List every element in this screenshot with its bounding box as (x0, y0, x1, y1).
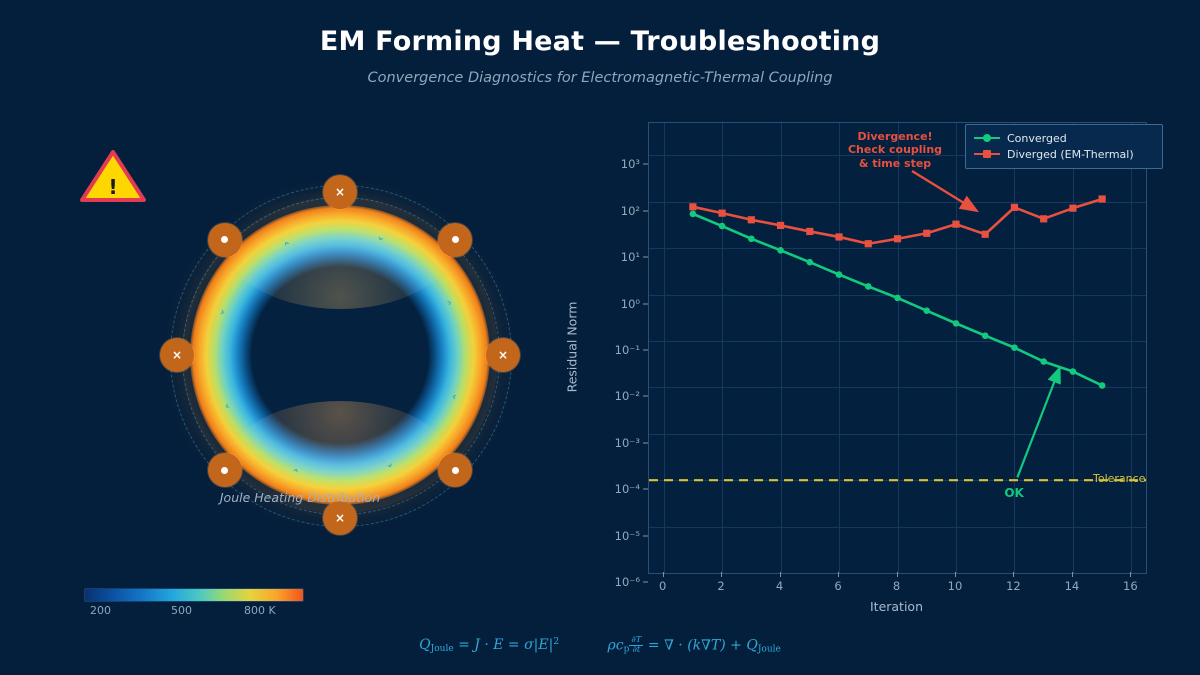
x-axis-tick-label: 10 (948, 579, 963, 593)
ok-annotation: OK (1004, 486, 1024, 500)
ring-visualization: ‹›‹›‹›‹› ×××× (160, 175, 520, 535)
svg-text:!: ! (108, 175, 117, 199)
data-point-marker (806, 259, 813, 266)
y-axis-tick-mark (643, 164, 648, 165)
coil-marker-cross-0[interactable]: × (323, 175, 357, 209)
colorbar-tick-low: 200 (90, 604, 111, 617)
legend-marker-1 (983, 150, 991, 158)
convergence-chart: Residual Norm Iteration 10³10²10¹10⁰10⁻¹… (580, 112, 1180, 602)
coil-marker-dot-7[interactable] (208, 223, 242, 257)
x-axis-tick-mark (721, 572, 722, 577)
equation-joule-heating: QJoule = J · E = σ|E|2 (419, 637, 559, 654)
data-point-marker (865, 240, 872, 247)
divergence-callout-arrow (912, 171, 977, 211)
y-axis-tick-mark (643, 489, 648, 490)
data-point-marker (718, 210, 725, 217)
data-point-marker (865, 283, 872, 290)
y-axis-tick-mark (643, 582, 648, 583)
x-axis-tick-label: 6 (834, 579, 841, 593)
coil-marker-dot-5[interactable] (208, 453, 242, 487)
data-point-marker (1040, 215, 1047, 222)
legend-swatch-diverged (974, 148, 1000, 160)
screen-root: EM Forming Heat — Troubleshooting Conver… (0, 0, 1200, 675)
x-axis-tick-mark (1013, 572, 1014, 577)
coil-cross-icon: × (335, 512, 345, 524)
data-point-marker (748, 216, 755, 223)
eq-thermal-den: ∂t (629, 646, 643, 655)
coil-dot-icon (221, 236, 228, 243)
data-point-marker (777, 222, 784, 229)
coil-dot-icon (452, 236, 459, 243)
data-point-marker (923, 230, 930, 237)
eq-thermal-rhs-sub: Joule (758, 644, 781, 654)
eq-thermal-rhs: = ∇ · (k∇T) + Q (648, 637, 758, 653)
data-point-marker (982, 332, 989, 339)
coil-marker-cross-4[interactable]: × (323, 501, 357, 535)
data-point-marker (748, 235, 755, 242)
data-point-marker (953, 320, 960, 327)
y-axis-label: Residual Norm (565, 302, 580, 393)
x-axis-tick-mark (1072, 572, 1073, 577)
ring-caption: Joule Heating Distribution (40, 490, 560, 505)
coil-dot-icon (221, 467, 228, 474)
data-point-marker (982, 231, 989, 238)
y-axis-tick-mark (643, 303, 648, 304)
eq-thermal-rho: ρc (608, 637, 624, 653)
data-point-marker (1040, 358, 1047, 365)
legend-item-converged[interactable]: Converged (974, 130, 1154, 146)
x-axis-tick-label: 12 (1006, 579, 1021, 593)
y-axis-tick-label: 10⁻¹ (615, 343, 640, 357)
x-axis-tick-label: 2 (717, 579, 724, 593)
legend-label-converged: Converged (1007, 132, 1067, 145)
y-axis-tick-mark (643, 442, 648, 443)
colorbar-gradient (84, 588, 304, 602)
data-point-marker (1070, 368, 1077, 375)
divergence-annotation: Divergence! Check coupling & time step (840, 130, 950, 170)
y-axis-tick-mark (643, 210, 648, 211)
x-axis-tick-mark (955, 572, 956, 577)
coil-marker-cross-6[interactable]: × (160, 338, 194, 372)
colorbar-tick-mid: 500 (171, 604, 192, 617)
data-point-marker (806, 228, 813, 235)
data-point-marker (835, 233, 842, 240)
x-axis-tick-label: 16 (1123, 579, 1138, 593)
data-point-marker (952, 221, 959, 228)
y-axis-tick-label: 10¹ (621, 250, 640, 264)
x-axis-label: Iteration (648, 599, 1145, 614)
series-canvas (649, 123, 1146, 573)
eq-joule-sub: Joule (431, 644, 454, 654)
x-axis-tick-mark (780, 572, 781, 577)
eq-thermal-fraction: ∂T∂t (629, 636, 643, 655)
coil-cross-icon: × (498, 349, 508, 361)
data-point-marker (1011, 204, 1018, 211)
y-axis-tick-mark (643, 396, 648, 397)
data-point-marker (1099, 195, 1106, 202)
data-point-marker (777, 247, 784, 254)
chart-legend[interactable]: Converged Diverged (EM-Thermal) (965, 124, 1163, 169)
joule-heating-panel: ‹›‹›‹›‹› ×××× ! Joule Heating Distributi… (40, 120, 560, 540)
x-axis-tick-mark (897, 572, 898, 577)
coil-marker-dot-1[interactable] (438, 223, 472, 257)
divergence-line-1: Divergence! (840, 130, 950, 143)
colorbar-ticks: 200 500 800 K (84, 604, 304, 622)
legend-swatch-converged (974, 132, 1000, 144)
x-axis-tick-mark (838, 572, 839, 577)
data-point-marker (894, 235, 901, 242)
y-axis-tick-mark (643, 535, 648, 536)
colorbar-tick-high: 800 K (244, 604, 276, 617)
x-axis-tick-label: 0 (659, 579, 666, 593)
coil-marker-dot-3[interactable] (438, 453, 472, 487)
x-axis-tick-label: 8 (893, 579, 900, 593)
divergence-line-3: & time step (840, 157, 950, 170)
equation-bar: QJoule = J · E = σ|E|2 ρcp∂T∂t = ∇ · (k∇… (0, 636, 1200, 655)
data-point-marker (690, 211, 697, 218)
x-axis-tick-label: 14 (1065, 579, 1080, 593)
legend-label-diverged: Diverged (EM-Thermal) (1007, 148, 1134, 161)
ok-callout-arrow (1017, 368, 1059, 478)
plot-area (648, 122, 1147, 574)
legend-marker-0 (983, 134, 991, 142)
eq-joule-lhs: Q (419, 637, 430, 653)
x-axis-tick-label: 4 (776, 579, 783, 593)
y-axis-tick-label: 10⁻⁵ (615, 529, 640, 543)
y-axis-tick-label: 10⁻⁶ (615, 575, 640, 589)
coil-cross-icon: × (335, 186, 345, 198)
data-point-marker (1099, 382, 1106, 389)
equation-heat-transfer: ρcp∂T∂t = ∇ · (k∇T) + QJoule (608, 636, 781, 655)
data-point-marker (719, 223, 726, 230)
y-axis-tick-label: 10⁰ (621, 297, 640, 311)
y-axis-tick-mark (643, 257, 648, 258)
coil-dot-icon (452, 467, 459, 474)
x-axis-tick-mark (663, 572, 664, 577)
y-axis-tick-label: 10⁻³ (615, 436, 640, 450)
divergence-line-2: Check coupling (840, 143, 950, 156)
page-title: EM Forming Heat — Troubleshooting (0, 26, 1200, 57)
eq-joule-exp: 2 (553, 637, 559, 647)
y-axis-tick-label: 10³ (621, 157, 640, 171)
data-point-marker (689, 203, 696, 210)
y-axis-tick-label: 10⁻⁴ (615, 482, 640, 496)
y-axis-tick-mark (643, 350, 648, 351)
data-point-marker (1069, 205, 1076, 212)
page-subtitle: Convergence Diagnostics for Electromagne… (0, 70, 1200, 86)
coil-cross-icon: × (172, 349, 182, 361)
y-axis-tick-label: 10² (621, 204, 640, 218)
data-point-marker (1011, 344, 1018, 351)
y-axis-tick-label: 10⁻² (615, 389, 640, 403)
data-point-marker (836, 271, 843, 278)
legend-item-diverged[interactable]: Diverged (EM-Thermal) (974, 146, 1154, 162)
coil-marker-cross-2[interactable]: × (486, 338, 520, 372)
data-point-marker (894, 295, 901, 302)
x-axis-tick-mark (1130, 572, 1131, 577)
data-point-marker (923, 307, 930, 314)
temperature-colorbar: 200 500 800 K (84, 588, 304, 622)
tolerance-label: Tolerance (1093, 472, 1145, 485)
eq-joule-mid: = J · E = σ|E| (458, 637, 553, 653)
